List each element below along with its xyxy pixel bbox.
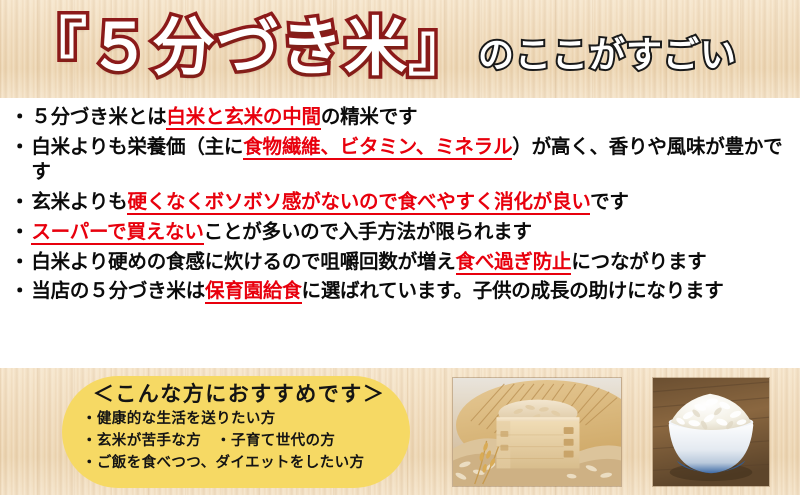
page-title: 『５分づき米』 [24, 16, 472, 79]
plain-phrase: 当店の５分づき米は [31, 279, 205, 302]
plain-phrase: 白米より硬めの食感に炊けるので咀嚼回数が増え [31, 250, 455, 273]
benefits-list: ・５分づき米とは白米と玄米の中間の精米です・白米よりも栄養価（主に食物繊維、ビタ… [0, 98, 800, 368]
benefit-text: 玄米よりも硬くなくボソボソ感がないので食べやすく消化が良いです [31, 189, 792, 215]
plain-phrase: ことが多いので入手方法が限られます [204, 220, 532, 243]
bullet-marker: ・ [10, 134, 29, 160]
header-title-group: 『５分づき米』 のここがすごい [0, 0, 800, 98]
highlighted-phrase: 保育園給食 [205, 279, 302, 304]
highlighted-phrase: 白米と玄米の中間 [166, 105, 320, 130]
bullet-marker: ・ [10, 249, 29, 275]
plain-phrase: に選ばれています。子供の成長の助けになります [302, 279, 724, 302]
benefit-text: 当店の５分づき米は保育園給食に選ばれています。子供の成長の助けになります [31, 278, 792, 304]
plain-phrase: 白米よりも栄養価（主に [31, 135, 243, 158]
recommendation-box: ＜こんな方におすすめです＞ ・健康的な生活を送りたい方 ・玄米が苦手な方 ・子育… [62, 376, 410, 488]
recommendation-title: ＜こんな方におすすめです＞ [78, 381, 400, 407]
recommendation-line: ・ご飯を食べつつ、ダイエットをしたい方 [78, 452, 400, 474]
bullet-marker: ・ [10, 219, 29, 245]
benefit-text: 白米よりも栄養価（主に食物繊維、ビタミン、ミネラル）が高く、香りや風味が豊かです [31, 134, 792, 185]
header-banner: 『５分づき米』 のここがすごい [0, 0, 800, 98]
page-subtitle: のここがすごい [478, 38, 737, 74]
plain-phrase: ５分づき米とは [31, 105, 166, 128]
footer-band: ＜こんな方におすすめです＞ ・健康的な生活を送りたい方 ・玄米が苦手な方 ・子育… [0, 368, 800, 495]
highlighted-phrase: 食物繊維、ビタミン、ミネラル [243, 135, 512, 160]
benefit-item: ・５分づき米とは白米と玄米の中間の精米です [10, 104, 792, 130]
benefit-text: 白米より硬めの食感に炊けるので咀嚼回数が増え食べ過ぎ防止につながります [31, 249, 792, 275]
bullet-marker: ・ [10, 189, 29, 215]
benefit-item: ・当店の５分づき米は保育園給食に選ばれています。子供の成長の助けになります [10, 278, 792, 304]
benefit-item: ・スーパーで買えないことが多いので入手方法が限られます [10, 219, 792, 245]
benefit-item: ・白米よりも栄養価（主に食物繊維、ビタミン、ミネラル）が高く、香りや風味が豊かで… [10, 134, 792, 185]
cooked-rice-in-bowl-photo [652, 377, 770, 487]
raw-rice-in-masu-box-photo [452, 377, 622, 487]
highlighted-phrase: スーパーで買えない [31, 220, 203, 245]
plain-phrase: につながります [571, 250, 706, 273]
plain-phrase: の精米です [321, 105, 418, 128]
raw-rice-image [453, 378, 621, 486]
highlighted-phrase: 硬くなくボソボソ感がないので食べやすく消化が良い [127, 190, 590, 215]
recommendation-line: ・玄米が苦手な方 ・子育て世代の方 [78, 430, 400, 452]
highlighted-phrase: 食べ過ぎ防止 [456, 250, 572, 275]
benefit-text: ５分づき米とは白米と玄米の中間の精米です [31, 104, 792, 130]
bullet-marker: ・ [10, 278, 29, 304]
benefit-text: スーパーで買えないことが多いので入手方法が限られます [31, 219, 792, 245]
bullet-marker: ・ [10, 104, 29, 130]
recommendation-line: ・健康的な生活を送りたい方 [78, 408, 400, 430]
benefit-item: ・玄米よりも硬くなくボソボソ感がないので食べやすく消化が良いです [10, 189, 792, 215]
cooked-rice-image [653, 378, 769, 486]
plain-phrase: 玄米よりも [31, 190, 127, 213]
benefit-item: ・白米より硬めの食感に炊けるので咀嚼回数が増え食べ過ぎ防止につながります [10, 249, 792, 275]
plain-phrase: です [590, 190, 629, 213]
